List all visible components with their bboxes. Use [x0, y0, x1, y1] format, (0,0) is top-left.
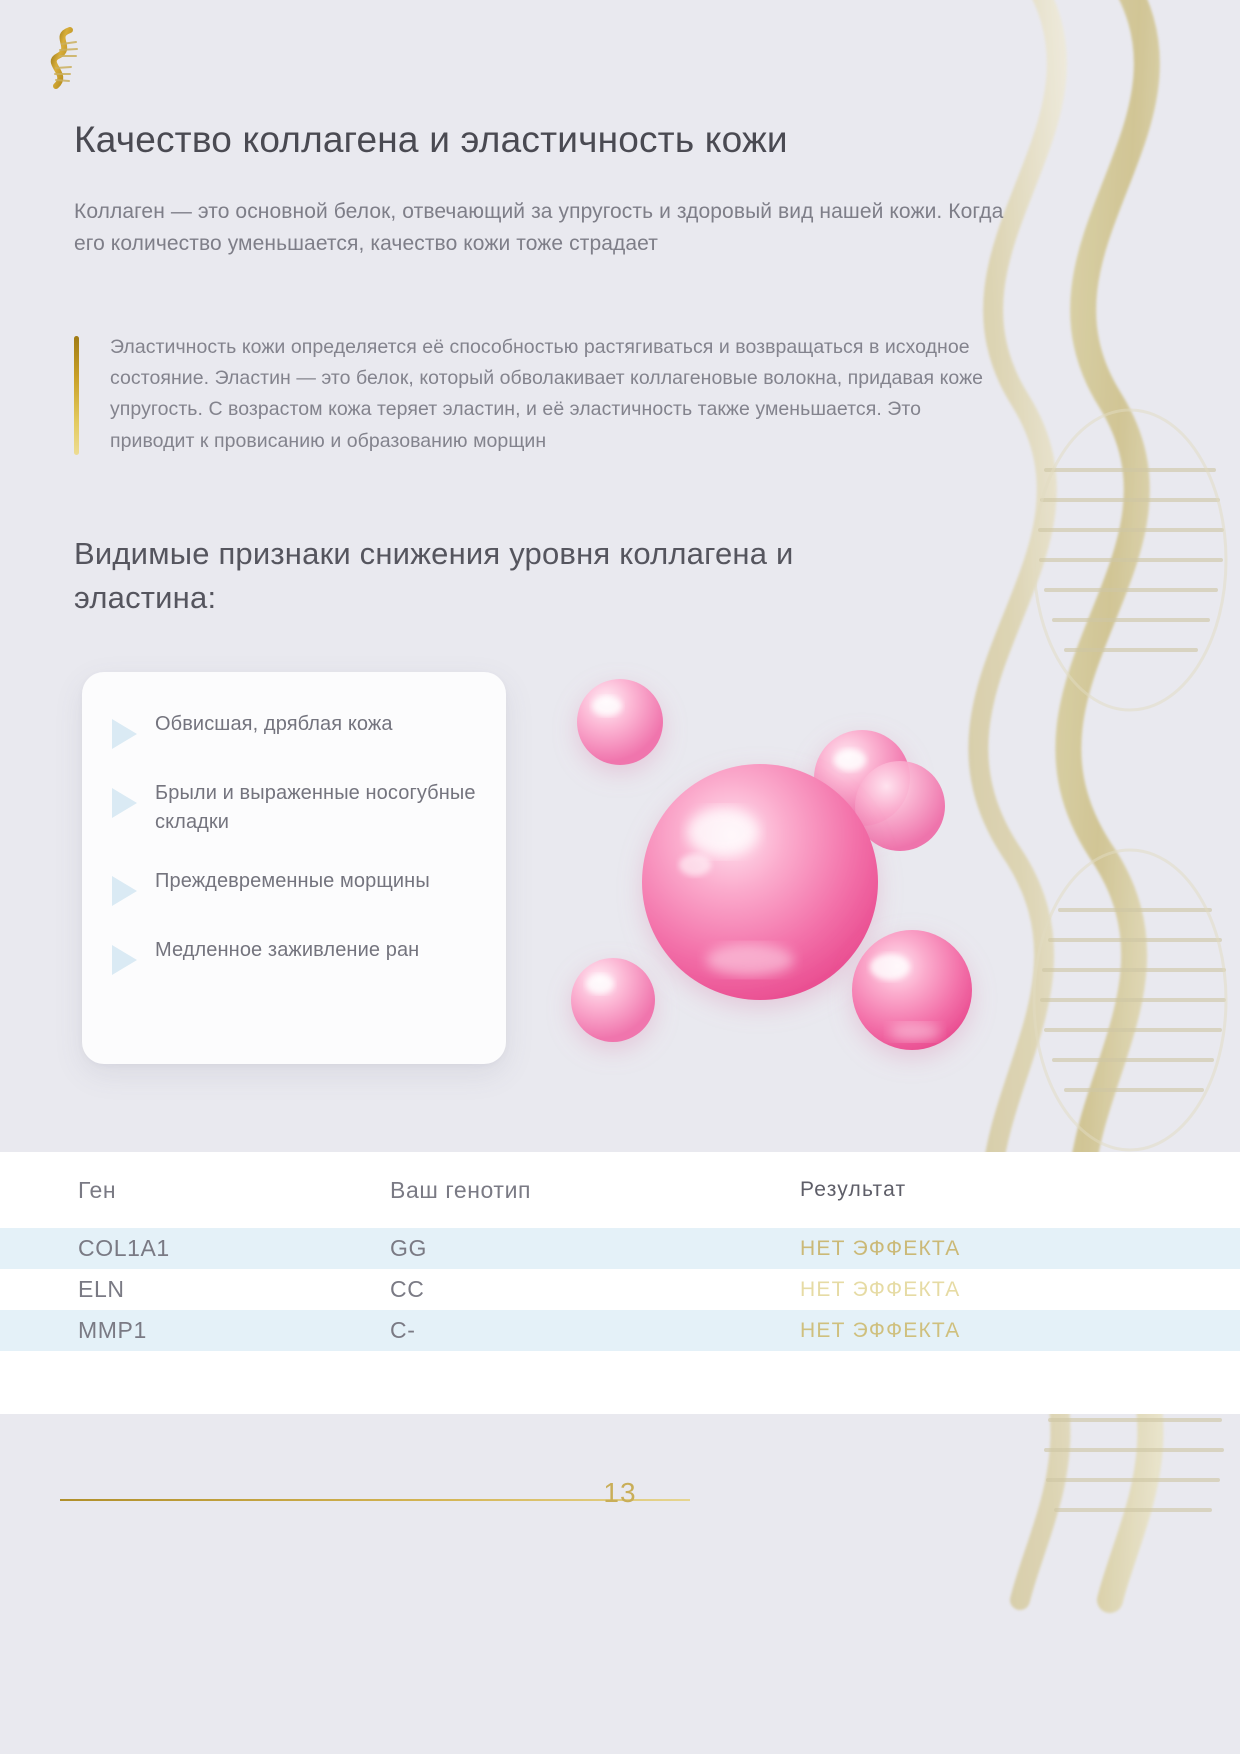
- cell-genotype: C-: [390, 1317, 800, 1344]
- table-row: COL1A1 GG НЕТ ЭФФЕКТА: [0, 1228, 1240, 1269]
- triangle-bullet-icon: [112, 945, 137, 975]
- column-header-gene: Ген: [78, 1177, 390, 1204]
- list-item: Брыли и выраженные носогубные складки: [104, 779, 480, 837]
- pink-bubbles-illustration: [545, 660, 1065, 1090]
- cell-genotype: CC: [390, 1276, 800, 1303]
- cell-genotype: GG: [390, 1235, 800, 1262]
- intro-paragraph: Коллаген — это основной белок, отвечающи…: [74, 196, 1004, 260]
- section-subheading: Видимые признаки снижения уровня коллаге…: [74, 532, 894, 620]
- column-header-result: Результат: [800, 1178, 1240, 1202]
- signs-list: Обвисшая, дряблая кожа Брыли и выраженны…: [82, 672, 506, 1064]
- table-bottom-spacer: [0, 1382, 1240, 1414]
- highlight-quote: Эластичность кожи определяется её способ…: [74, 332, 1010, 457]
- signs-card: Обвисшая, дряблая кожа Брыли и выраженны…: [82, 672, 506, 1064]
- list-item-label: Преждевременные морщины: [155, 867, 430, 896]
- bubble-small-top-left: [577, 679, 663, 765]
- results-table: Ген Ваш генотип Результат COL1A1 GG НЕТ …: [0, 1152, 1240, 1351]
- column-header-genotype: Ваш генотип: [390, 1177, 800, 1204]
- list-item-label: Обвисшая, дряблая кожа: [155, 710, 393, 739]
- cell-result: НЕТ ЭФФЕКТА: [800, 1319, 1240, 1343]
- dna-helix-logo: [36, 24, 94, 92]
- triangle-bullet-icon: [112, 876, 137, 906]
- table-row: MMP1 C- НЕТ ЭФФЕКТА: [0, 1310, 1240, 1351]
- page-title: Качество коллагена и эластичность кожи: [74, 118, 994, 162]
- list-item: Преждевременные морщины: [104, 867, 480, 906]
- page-number: 13: [0, 1477, 1240, 1509]
- triangle-bullet-icon: [112, 788, 137, 818]
- triangle-bullet-icon: [112, 719, 137, 749]
- list-item-label: Брыли и выраженные носогубные складки: [155, 779, 480, 837]
- cell-gene: ELN: [78, 1276, 390, 1303]
- list-item: Обвисшая, дряблая кожа: [104, 710, 480, 749]
- report-page: Качество коллагена и эластичность кожи К…: [0, 0, 1240, 1754]
- cell-result: НЕТ ЭФФЕКТА: [800, 1278, 1240, 1302]
- cell-gene: COL1A1: [78, 1235, 390, 1262]
- cell-result: НЕТ ЭФФЕКТА: [800, 1237, 1240, 1261]
- list-item: Медленное заживление ран: [104, 936, 480, 975]
- list-item-label: Медленное заживление ран: [155, 936, 419, 965]
- bubble-bottom-left: [571, 958, 655, 1042]
- table-header-row: Ген Ваш генотип Результат: [0, 1152, 1240, 1228]
- cell-gene: MMP1: [78, 1317, 390, 1344]
- table-row: ELN CC НЕТ ЭФФЕКТА: [0, 1269, 1240, 1310]
